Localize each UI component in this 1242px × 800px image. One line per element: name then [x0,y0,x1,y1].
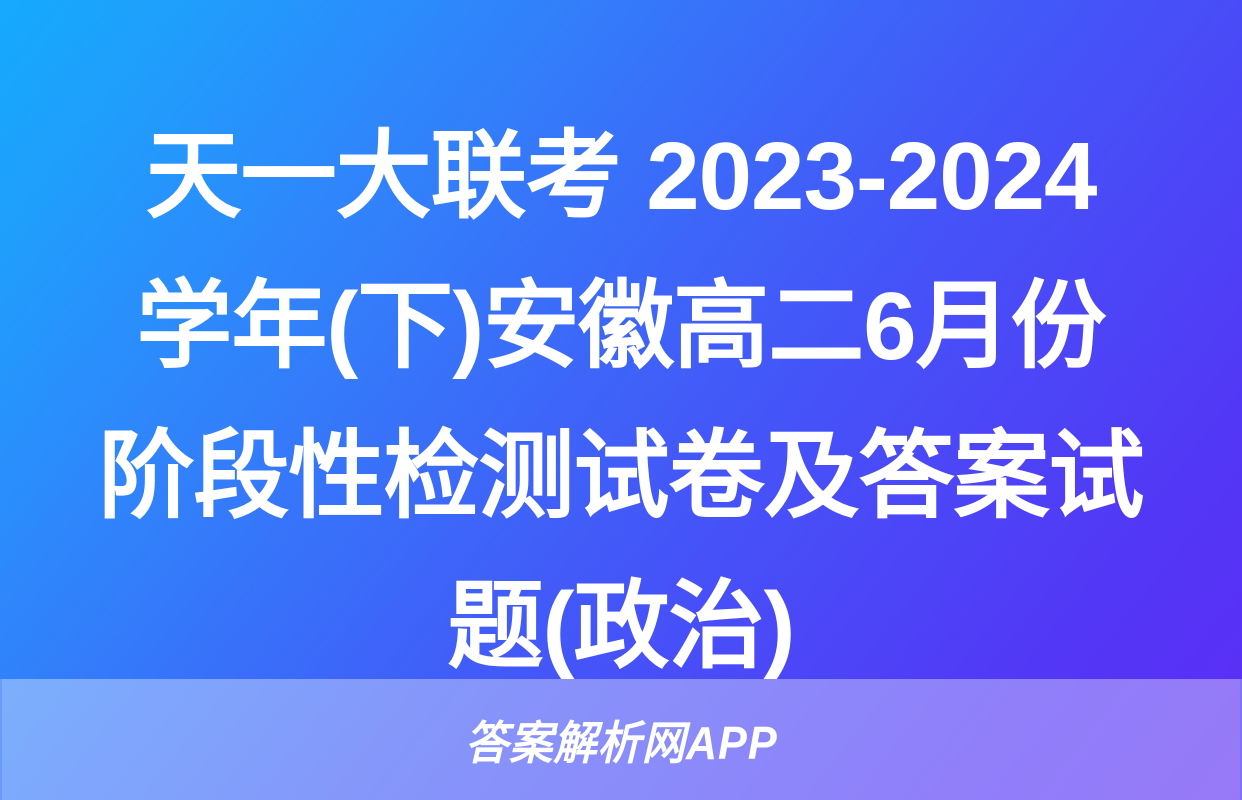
page-title: 天一大联考 2023-2024 学年(下)安徽高二6月份 阶段性检测试卷及答案试… [0,102,1242,702]
watermark-app-label: 答案解析网APP [465,707,778,773]
watermark-strip: 答案解析网APP [0,679,1242,800]
title-line-3: 阶段性检测试卷及答案试 [72,402,1170,552]
poster-container: 天一大联考 2023-2024 学年(下)安徽高二6月份 阶段性检测试卷及答案试… [0,0,1242,800]
title-line-2: 学年(下)安徽高二6月份 [72,252,1170,402]
title-line-1: 天一大联考 2023-2024 [72,102,1170,252]
